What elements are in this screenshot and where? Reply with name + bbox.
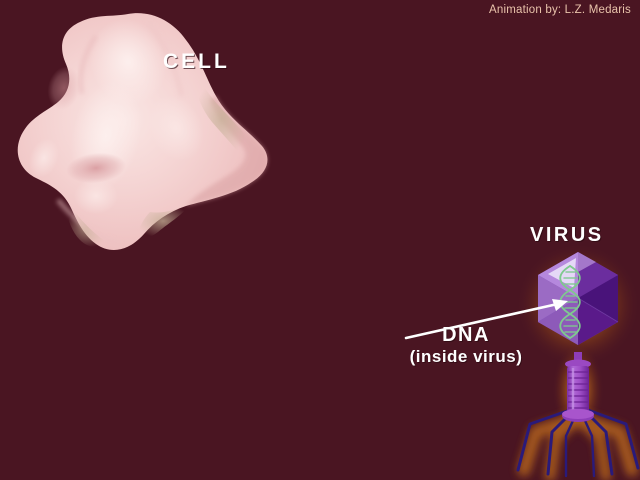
cell-highlight-lower	[74, 178, 118, 214]
cell-graphic	[18, 8, 268, 250]
animation-frame: CELL VIRUS DNA (inside virus) Animation …	[0, 0, 640, 480]
tail-baseplate-rim	[562, 409, 594, 419]
scene-illustration	[0, 0, 640, 480]
tail-sheath-striations	[568, 372, 588, 408]
